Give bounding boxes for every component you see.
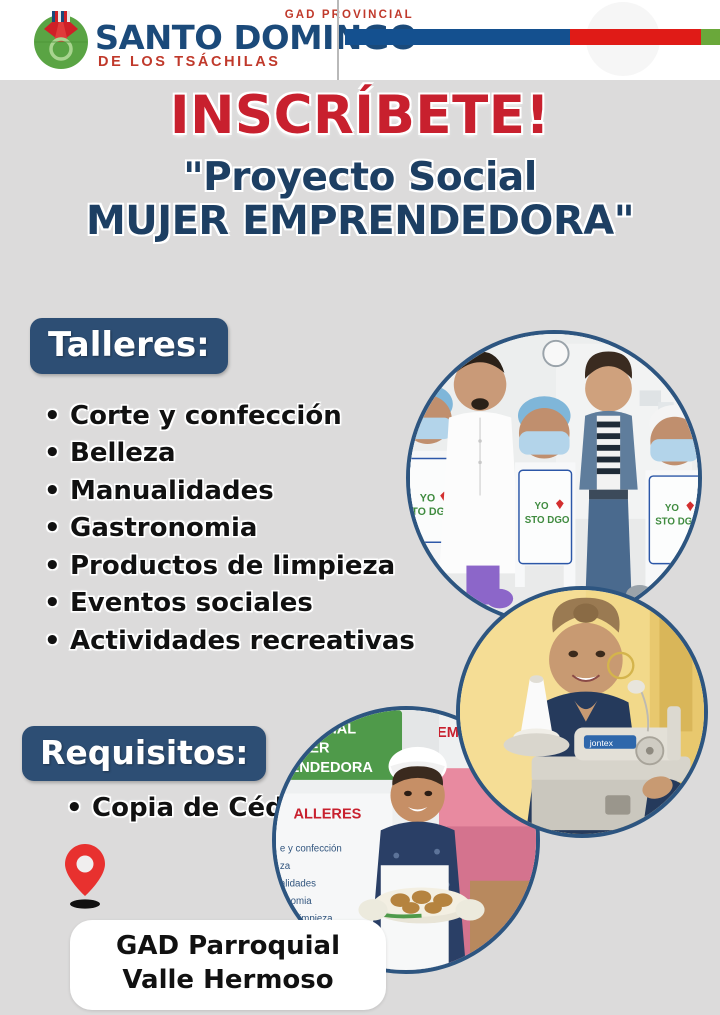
svg-text:za: za [280, 861, 291, 872]
location-line-2: Valle Hermoso [80, 963, 376, 997]
flag-segment-green [701, 29, 720, 45]
flag-segment-red [570, 29, 701, 45]
svg-text:ALLERES: ALLERES [293, 807, 361, 823]
badge-talleres: Talleres: [30, 318, 228, 374]
headline-inscribete: INSCRÍBETE! [0, 88, 720, 144]
svg-text:YO: YO [420, 492, 435, 504]
svg-text:JER: JER [301, 741, 330, 757]
svg-text:SOCIAL: SOCIAL [301, 721, 356, 737]
svg-text:alidades: alidades [280, 879, 316, 890]
header-bar: GAD PROVINCIAL SANTO DOMINGO DE LOS TSÁC… [0, 0, 720, 80]
list-item: Manualidades [70, 473, 415, 510]
santo-domingo-flag-stripe [345, 29, 720, 45]
location-box: GAD Parroquial Valle Hermoso [70, 920, 386, 1010]
list-item: Actividades recreativas [70, 623, 415, 660]
header-vertical-divider [337, 0, 339, 80]
list-item: Gastronomia [70, 510, 415, 547]
logo-sub-label: DE LOS TSÁCHILAS [98, 55, 414, 70]
flyer-poster: GAD PROVINCIAL SANTO DOMINGO DE LOS TSÁC… [0, 0, 720, 1015]
tsachila-circle-emblem-icon [30, 9, 92, 71]
subtitle-project: "Proyecto Social MUJER EMPRENDEDORA" [0, 156, 720, 244]
subtitle-line-2: MUJER EMPRENDEDORA" [0, 199, 720, 244]
svg-text:onomia: onomia [280, 896, 312, 907]
svg-text:jontex: jontex [589, 738, 614, 748]
map-pin-icon [62, 842, 108, 910]
title-block: INSCRÍBETE! "Proyecto Social MUJER EMPRE… [0, 88, 720, 244]
talleres-list: Corte y confección Belleza Manualidades … [70, 398, 415, 660]
badge-requisitos: Requisitos: [22, 726, 266, 781]
svg-text:STO DGO: STO DGO [655, 517, 698, 528]
list-item: Productos de limpieza [70, 548, 415, 585]
location-line-1: GAD Parroquial [80, 929, 376, 963]
svg-text:YO: YO [665, 503, 679, 514]
svg-text:ENDEDORA: ENDEDORA [290, 760, 374, 776]
list-item: Belleza [70, 435, 415, 472]
svg-text:EM: EM [437, 725, 459, 741]
photo-group-workshop: YO STO DGO YO [406, 330, 702, 626]
photo-sewing-machine: jontex [456, 586, 708, 838]
flag-segment-blue [345, 29, 570, 45]
svg-text:e y confección: e y confección [280, 844, 342, 855]
list-item: Eventos sociales [70, 585, 415, 622]
svg-text:STO DGO: STO DGO [525, 515, 570, 526]
subtitle-line-1: "Proyecto Social [183, 155, 537, 200]
svg-text:YO: YO [535, 501, 549, 512]
list-item: Corte y confección [70, 398, 415, 435]
